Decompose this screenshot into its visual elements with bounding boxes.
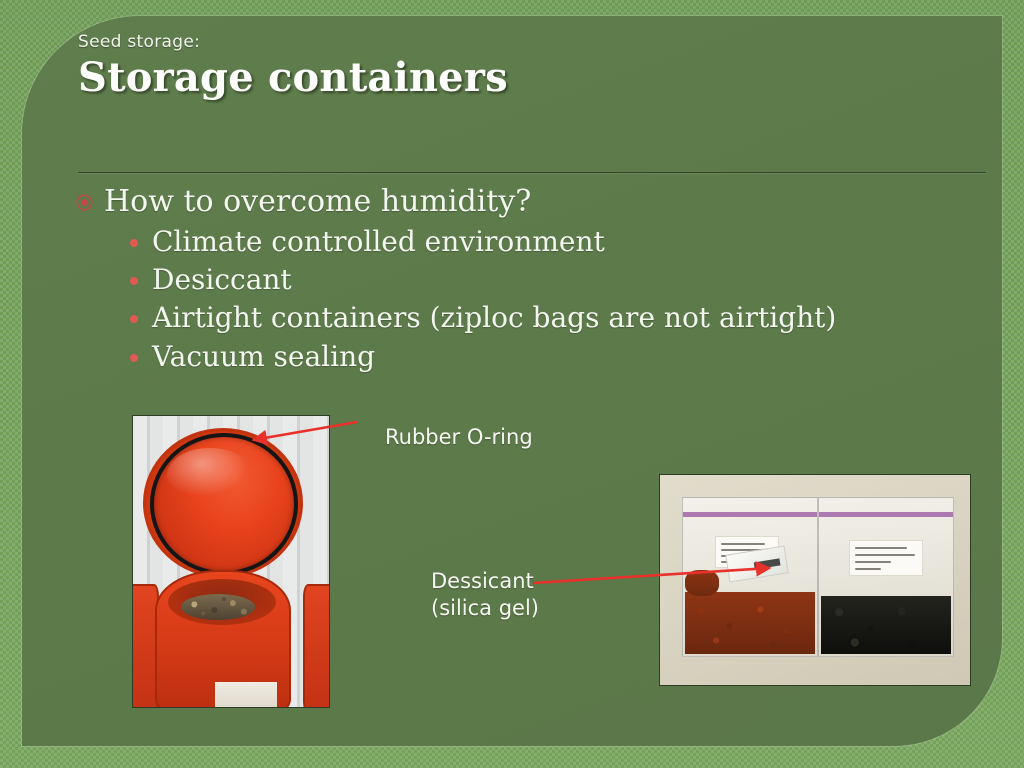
zip-seal (819, 512, 953, 517)
callout-line: (silica gel) (431, 595, 539, 622)
dot-bullet-icon (130, 315, 138, 323)
sub-bullet-list: Climate controlled environment Desiccant… (130, 224, 972, 376)
bucket-lid (150, 433, 298, 575)
zip-seal (683, 512, 817, 517)
target-ring-bullet-icon (78, 196, 91, 209)
bullet-text: Vacuum sealing (152, 339, 375, 375)
bullet-list: How to overcome humidity? Climate contro… (78, 184, 972, 377)
callout-rubber-o-ring: Rubber O-ring (385, 424, 533, 451)
bullet-text: Desiccant (152, 262, 292, 298)
callout-line: Dessicant (431, 568, 539, 595)
slide-header: Seed storage: Storage containers (78, 32, 962, 101)
bullet-item-sub: Desiccant (130, 262, 972, 298)
bag-label-note (849, 540, 923, 576)
bags-photo (659, 474, 971, 686)
dot-bullet-icon (130, 277, 138, 285)
handwriting-line (855, 554, 915, 556)
callout-desiccant: Dessicant (silica gel) (431, 568, 539, 623)
ziploc-bag-right (818, 497, 954, 657)
bullet-item-sub: Climate controlled environment (130, 224, 972, 260)
callout-line: Rubber O-ring (385, 424, 533, 451)
bucket-body (155, 570, 291, 708)
eyebrow-text: Seed storage: (78, 32, 962, 52)
black-seeds (821, 596, 951, 654)
bullet-item-sub: Airtight containers (ziploc bags are not… (130, 300, 972, 336)
bullet-item-primary: How to overcome humidity? (78, 184, 972, 221)
bullet-text: Climate controlled environment (152, 224, 605, 260)
handwriting-line (855, 561, 891, 563)
handwriting-line (855, 568, 881, 570)
bullet-text: How to overcome humidity? (104, 184, 531, 221)
title-divider (78, 172, 986, 173)
seeds-in-bucket (181, 594, 255, 620)
dot-bullet-icon (130, 354, 138, 362)
bucket-photo (132, 415, 330, 708)
bucket-neighbor-right (303, 584, 330, 708)
handwriting-line (855, 547, 907, 549)
red-seeds (685, 592, 815, 654)
handwriting-line (721, 543, 765, 545)
bullet-text: Airtight containers (ziploc bags are not… (152, 300, 836, 336)
bullet-item-sub: Vacuum sealing (130, 339, 972, 375)
bucket-label (215, 682, 277, 708)
slide-canvas: Seed storage: Storage containers How to … (0, 0, 1024, 768)
slide-panel: Seed storage: Storage containers How to … (22, 16, 1002, 746)
ziploc-bag-left (682, 497, 818, 657)
silica-packet-print (754, 558, 781, 569)
dot-bullet-icon (130, 239, 138, 247)
page-title: Storage containers (78, 56, 962, 101)
